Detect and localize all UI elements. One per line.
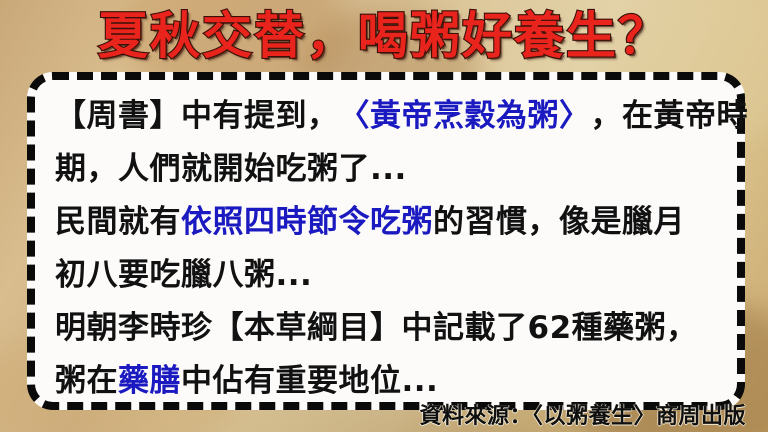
- source-attribution: 資料來源：〈以粥養生〉商周出版: [419, 398, 746, 430]
- body-text-segment: 期，人們就開始吃粥了...: [55, 143, 407, 188]
- slide-root: 夏秋交替，喝粥好養生？ 【周書】中有提到，〈黃帝烹穀為粥〉，在黃帝時期，人們就開…: [0, 0, 768, 432]
- highlighted-phrase: 〈黃帝烹穀為粥〉: [339, 90, 591, 135]
- content-card: 【周書】中有提到，〈黃帝烹穀為粥〉，在黃帝時期，人們就開始吃粥了...民間就有依…: [27, 72, 745, 410]
- body-text-segment: 粥在: [55, 355, 118, 400]
- body-text-segment: 中佔有重要地位...: [181, 355, 438, 400]
- content-line: 【周書】中有提到，〈黃帝烹穀為粥〉，在黃帝時: [55, 86, 723, 139]
- body-text-segment: 民間就有: [55, 196, 181, 241]
- content-line: 民間就有依照四時節令吃粥的習慣，像是臘月: [55, 192, 723, 245]
- body-text-segment: 的習慣，像是臘月: [433, 196, 685, 241]
- content-line: 明朝李時珍【本草綱目】中記載了62種藥粥，: [55, 298, 723, 351]
- highlighted-phrase: 藥膳: [118, 355, 181, 400]
- content-lines: 【周書】中有提到，〈黃帝烹穀為粥〉，在黃帝時期，人們就開始吃粥了...民間就有依…: [55, 86, 723, 404]
- body-text-segment: 【周書】中有提到，: [55, 90, 339, 135]
- content-line: 粥在藥膳中佔有重要地位...: [55, 351, 723, 404]
- title-bar: 夏秋交替，喝粥好養生？: [0, 2, 768, 70]
- highlighted-phrase: 依照四時節令吃粥: [181, 196, 433, 241]
- headline-title: 夏秋交替，喝粥好養生？: [98, 11, 670, 61]
- content-line: 期，人們就開始吃粥了...: [55, 139, 723, 192]
- content-line: 初八要吃臘八粥...: [55, 245, 723, 298]
- body-text-segment: 初八要吃臘八粥...: [55, 249, 312, 294]
- body-text-segment: 明朝李時珍【本草綱目】中記載了62種藥粥，: [55, 302, 698, 347]
- body-text-segment: ，在黃帝時: [591, 90, 749, 135]
